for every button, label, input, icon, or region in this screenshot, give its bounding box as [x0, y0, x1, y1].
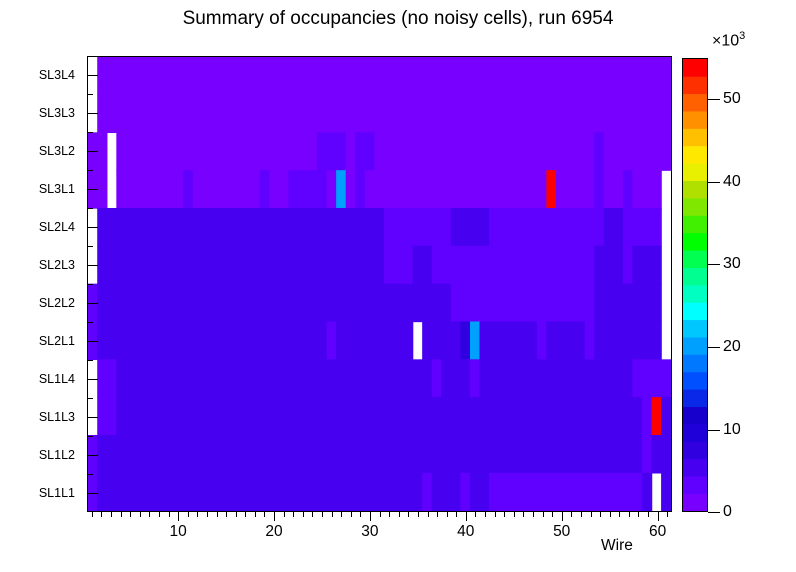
- heatmap-cell: [566, 132, 576, 171]
- heatmap-cell: [384, 57, 394, 95]
- heatmap-cell: [632, 284, 642, 323]
- heatmap-cell: [393, 397, 403, 436]
- heatmap-cell: [632, 473, 642, 511]
- heatmap-cell: [499, 397, 509, 436]
- heatmap-cell: [623, 132, 633, 171]
- heatmap-cell: [652, 397, 662, 436]
- heatmap-cell: [441, 473, 451, 511]
- heatmap-cell: [107, 435, 117, 474]
- x-tick-mark-minor: [428, 512, 429, 517]
- heatmap-cell: [518, 57, 528, 95]
- colorbar-band: [683, 198, 707, 216]
- heatmap-cell: [116, 321, 126, 360]
- heatmap-cell: [279, 132, 289, 171]
- colorbar-exponent-power: 3: [739, 30, 745, 42]
- heatmap-cell: [384, 359, 394, 398]
- heatmap-cell: [212, 208, 222, 247]
- heatmap-cell: [441, 170, 451, 209]
- heatmap-cell: [422, 397, 432, 436]
- heatmap-cell: [107, 397, 117, 436]
- heatmap-cell: [585, 321, 595, 360]
- heatmap-cell: [585, 94, 595, 133]
- heatmap-cell: [155, 321, 165, 360]
- heatmap-cell: [585, 359, 595, 398]
- heatmap-cell: [155, 473, 165, 511]
- heatmap-cell: [632, 94, 642, 133]
- heatmap-cell: [126, 246, 136, 285]
- heatmap-cell: [288, 321, 298, 360]
- heatmap-cell: [575, 473, 585, 511]
- heatmap-cell: [604, 208, 614, 247]
- colorbar-band: [683, 163, 707, 181]
- heatmap-cell: [604, 170, 614, 209]
- heatmap-cell: [174, 359, 184, 398]
- heatmap-cell: [307, 397, 317, 436]
- heatmap-cell: [661, 132, 671, 171]
- heatmap-cell: [288, 473, 298, 511]
- colorbar-band: [683, 493, 707, 511]
- heatmap-cell: [135, 57, 145, 95]
- heatmap-cell: [604, 321, 614, 360]
- heatmap-cell: [269, 132, 279, 171]
- heatmap-cell: [499, 208, 509, 247]
- heatmap-cell: [279, 170, 289, 209]
- heatmap-cell: [518, 170, 528, 209]
- heatmap-cell: [250, 397, 260, 436]
- heatmap-cell: [413, 473, 423, 511]
- heatmap-cell: [212, 170, 222, 209]
- heatmap-cell: [451, 170, 461, 209]
- x-tick-mark-minor: [293, 512, 294, 517]
- heatmap-cell: [355, 170, 365, 209]
- heatmap-cell: [241, 170, 251, 209]
- heatmap-cell: [174, 473, 184, 511]
- heatmap-cell: [489, 57, 499, 95]
- heatmap-cell: [384, 208, 394, 247]
- heatmap-cell: [250, 94, 260, 133]
- heatmap-cell: [508, 359, 518, 398]
- y-tick-mark-minor: [87, 94, 93, 95]
- heatmap-cell: [221, 321, 231, 360]
- x-tick-mark-minor: [619, 512, 620, 517]
- heatmap-cell: [231, 435, 241, 474]
- heatmap-cell: [652, 359, 662, 398]
- x-tick-mark: [466, 512, 467, 521]
- heatmap-cell: [212, 57, 222, 95]
- heatmap-cell: [327, 246, 337, 285]
- heatmap-cell: [126, 473, 136, 511]
- heatmap-cell: [432, 246, 442, 285]
- heatmap-cell: [441, 94, 451, 133]
- heatmap-cell: [594, 284, 604, 323]
- colorbar-band: [683, 215, 707, 233]
- heatmap-cell: [346, 57, 356, 95]
- heatmap-cell: [518, 94, 528, 133]
- heatmap-cell: [307, 473, 317, 511]
- heatmap-cell: [470, 321, 480, 360]
- colorbar[interactable]: [682, 58, 708, 512]
- heatmap-cell: [241, 132, 251, 171]
- heatmap-cell: [288, 94, 298, 133]
- heatmap-cell: [269, 57, 279, 95]
- heatmap-cell: [355, 284, 365, 323]
- heatmap-cell: [470, 94, 480, 133]
- heatmap-cell: [307, 57, 317, 95]
- heatmap-cell: [566, 208, 576, 247]
- heatmap-cell: [145, 94, 155, 133]
- heatmap-cell: [250, 57, 260, 95]
- heatmap-cell: [613, 94, 623, 133]
- heatmap-cell: [451, 57, 461, 95]
- colorbar-band: [683, 93, 707, 111]
- heatmap-cell: [202, 57, 212, 95]
- heatmap-cell: [393, 435, 403, 474]
- heatmap-cell: [489, 397, 499, 436]
- heatmap-cell: [116, 57, 126, 95]
- heatmap-cell: [537, 132, 547, 171]
- heatmap-cell: [460, 208, 470, 247]
- heatmap-cell: [393, 132, 403, 171]
- heatmap-cell: [661, 397, 671, 436]
- heatmap-cell: [164, 284, 174, 323]
- heatmap-cell: [241, 435, 251, 474]
- x-tick-mark-minor: [591, 512, 592, 517]
- heatmap-cell: [556, 170, 566, 209]
- heatmap-cell: [480, 473, 490, 511]
- heatmap-cell: [451, 397, 461, 436]
- heatmap-cell: [537, 57, 547, 95]
- heatmap-cell: [556, 246, 566, 285]
- heatmap-cell: [250, 170, 260, 209]
- heatmap-cell: [575, 208, 585, 247]
- x-tick-mark-minor: [226, 512, 227, 517]
- heatmap-cell: [518, 359, 528, 398]
- x-tick-mark: [370, 512, 371, 521]
- colorbar-band: [683, 128, 707, 146]
- x-tick-mark-minor: [245, 512, 246, 517]
- heatmap-cell: [403, 359, 413, 398]
- z-tick-mark: [708, 430, 720, 431]
- heatmap-cell: [594, 208, 604, 247]
- heatmap-cell: [202, 246, 212, 285]
- heatmap-cell: [250, 246, 260, 285]
- heatmap-cell: [527, 435, 537, 474]
- heatmap-cell: [126, 57, 136, 95]
- x-tick-mark-minor: [188, 512, 189, 517]
- heatmap-cell: [116, 170, 126, 209]
- heatmap-cell: [470, 435, 480, 474]
- heatmap-cell: [336, 57, 346, 95]
- heatmap-cell: [642, 435, 652, 474]
- heatmap-cell: [632, 321, 642, 360]
- heatmap-cell: [403, 170, 413, 209]
- heatmap-cell: [585, 246, 595, 285]
- heatmap-cell: [575, 132, 585, 171]
- heatmap-cell: [231, 132, 241, 171]
- heatmap-cell: [97, 321, 107, 360]
- heatmap-cell: [374, 170, 384, 209]
- heatmap-cell: [604, 397, 614, 436]
- heatmap-cell: [307, 284, 317, 323]
- colorbar-band: [683, 389, 707, 407]
- heatmap-cell: [355, 132, 365, 171]
- heatmap-cell: [174, 170, 184, 209]
- heatmap-cell: [556, 359, 566, 398]
- heatmap-cell: [365, 94, 375, 133]
- heatmap-cell: [317, 57, 327, 95]
- heatmap-cell: [327, 321, 337, 360]
- heatmap-cell: [116, 284, 126, 323]
- x-tick-mark: [658, 512, 659, 521]
- heatmap-cell: [374, 94, 384, 133]
- heatmap-cell: [470, 284, 480, 323]
- heatmap-cell: [575, 94, 585, 133]
- heatmap-cell: [623, 208, 633, 247]
- heatmap-cell: [527, 132, 537, 171]
- heatmap-cell: [642, 321, 652, 360]
- heatmap-cell: [336, 94, 346, 133]
- heatmap-cell: [403, 435, 413, 474]
- heatmap-cell: [441, 284, 451, 323]
- heatmap-cell: [126, 170, 136, 209]
- heatmap-cell: [585, 170, 595, 209]
- heatmap-cell: [604, 94, 614, 133]
- heatmap-cell: [575, 170, 585, 209]
- heatmap-cell: [585, 57, 595, 95]
- heatmap-cell: [546, 359, 556, 398]
- heatmap-cell: [556, 94, 566, 133]
- heatmap-cell: [546, 397, 556, 436]
- colorbar-band: [683, 476, 707, 494]
- heatmap-cell: [298, 284, 308, 323]
- heatmap-cell: [393, 284, 403, 323]
- y-tick-mark: [87, 493, 98, 494]
- heatmap-cell: [403, 473, 413, 511]
- heatmap-cell: [135, 397, 145, 436]
- heatmap-cell: [451, 132, 461, 171]
- heatmap-cell: [575, 435, 585, 474]
- heatmap-cell: [174, 284, 184, 323]
- heatmap-cell: [566, 284, 576, 323]
- heatmap-cell: [604, 57, 614, 95]
- heatmap-cell: [613, 170, 623, 209]
- x-tick-mark-minor: [207, 512, 208, 517]
- z-tick-mark: [708, 182, 720, 183]
- heatmap-cell: [231, 321, 241, 360]
- heatmap-cell: [623, 435, 633, 474]
- heatmap-cell: [145, 246, 155, 285]
- heatmap-cell: [384, 397, 394, 436]
- heatmap-cell: [155, 359, 165, 398]
- heatmap-cell: [575, 246, 585, 285]
- heatmap-cell: [594, 321, 604, 360]
- x-tick-mark-minor: [332, 512, 333, 517]
- x-tick-mark-minor: [322, 512, 323, 517]
- heatmap-cell: [422, 246, 432, 285]
- heatmap-cell: [327, 132, 337, 171]
- heatmap-cell: [470, 208, 480, 247]
- heatmap-cell: [260, 132, 270, 171]
- heatmap-cell: [327, 359, 337, 398]
- heatmap-cell: [384, 284, 394, 323]
- heatmap-cell: [537, 170, 547, 209]
- heatmap-cell: [652, 435, 662, 474]
- heatmap-cell: [623, 94, 633, 133]
- heatmap-cell: [527, 57, 537, 95]
- x-tick-mark-minor: [284, 512, 285, 517]
- heatmap-cell: [135, 321, 145, 360]
- y-tick-label-sl3l4: SL3L4: [39, 68, 75, 82]
- heatmap-cell: [116, 359, 126, 398]
- colorbar-band: [683, 180, 707, 198]
- x-tick-mark-minor: [312, 512, 313, 517]
- heatmap-cell: [355, 473, 365, 511]
- heatmap-cell: [470, 132, 480, 171]
- heatmap-cell: [260, 473, 270, 511]
- heatmap-cell: [556, 397, 566, 436]
- heatmap-cell: [642, 57, 652, 95]
- heatmap-cell: [126, 94, 136, 133]
- heatmap-cell: [288, 170, 298, 209]
- heatmap-cell: [604, 359, 614, 398]
- y-tick-mark-minor: [87, 246, 93, 247]
- heatmap-cell: [107, 321, 117, 360]
- heatmap-cell: [518, 397, 528, 436]
- heatmap-cell: [451, 208, 461, 247]
- heatmap-cell: [556, 57, 566, 95]
- heatmap-cell: [135, 208, 145, 247]
- heatmap-cell: [288, 57, 298, 95]
- heatmap-cell: [126, 132, 136, 171]
- heatmap-cell: [365, 435, 375, 474]
- heatmap-cell: [231, 246, 241, 285]
- y-tick-label-sl3l2: SL3L2: [39, 144, 75, 158]
- heatmap-cell: [298, 208, 308, 247]
- heatmap-cell: [317, 94, 327, 133]
- heatmap-cell: [623, 246, 633, 285]
- heatmap-cell: [97, 473, 107, 511]
- heatmap-cell: [365, 397, 375, 436]
- colorbar-band: [683, 267, 707, 285]
- heatmap-cell: [174, 397, 184, 436]
- x-tick-mark-minor: [648, 512, 649, 517]
- heatmap-cell: [346, 397, 356, 436]
- heatmap-cell: [231, 170, 241, 209]
- heatmap-cell: [145, 57, 155, 95]
- colorbar-band: [683, 424, 707, 442]
- y-tick-mark: [87, 189, 98, 190]
- z-tick-label-40: 40: [723, 173, 741, 191]
- colorbar-exponent-base: ×10: [712, 32, 739, 49]
- heatmap-cell: [432, 57, 442, 95]
- heatmap-cell: [556, 473, 566, 511]
- heatmap-cell: [403, 284, 413, 323]
- heatmap-cell: [480, 94, 490, 133]
- y-tick-mark: [87, 417, 98, 418]
- heatmap-cell: [546, 208, 556, 247]
- heatmap-cell: [346, 435, 356, 474]
- heatmap-cell: [126, 435, 136, 474]
- heatmap-cell: [499, 359, 509, 398]
- heatmap-cell: [432, 473, 442, 511]
- heatmap-cell: [250, 284, 260, 323]
- heatmap-cell: [317, 170, 327, 209]
- heatmap-cell: [652, 94, 662, 133]
- x-tick-mark-minor: [629, 512, 630, 517]
- y-tick-mark: [87, 151, 98, 152]
- heatmap-cell: [97, 57, 107, 95]
- x-axis-title: Wire: [601, 537, 633, 555]
- heatmap-cell: [508, 132, 518, 171]
- heatmap-cell: [107, 359, 117, 398]
- heatmap-cell: [652, 132, 662, 171]
- heatmap-cell: [403, 57, 413, 95]
- y-tick-mark: [87, 113, 98, 114]
- heatmap-cell: [155, 170, 165, 209]
- heatmap-cell: [212, 397, 222, 436]
- heatmap-cell: [317, 208, 327, 247]
- heatmap-cell: [594, 94, 604, 133]
- heatmap-cell: [116, 435, 126, 474]
- heatmap-cell: [155, 94, 165, 133]
- heatmap-cell: [613, 132, 623, 171]
- heatmap-cell: [652, 57, 662, 95]
- colorbar-exponent: ×103: [712, 30, 745, 50]
- heatmap-cell: [652, 284, 662, 323]
- colorbar-gradient: [683, 59, 707, 511]
- z-tick-label-10: 10: [723, 421, 741, 439]
- heatmap-cell: [537, 435, 547, 474]
- heatmap-cell: [393, 208, 403, 247]
- heatmap-cell: [107, 208, 117, 247]
- heatmap-cell: [594, 435, 604, 474]
- y-tick-mark: [87, 341, 98, 342]
- heatmap-cell: [508, 473, 518, 511]
- heatmap-cell: [241, 359, 251, 398]
- heatmap-cell: [155, 208, 165, 247]
- heatmap-plot-area[interactable]: [87, 56, 672, 512]
- colorbar-band: [683, 354, 707, 372]
- colorbar-band: [683, 337, 707, 355]
- heatmap-cell: [623, 170, 633, 209]
- x-tick-mark-minor: [303, 512, 304, 517]
- heatmap-cell: [642, 473, 652, 511]
- heatmap-cell: [604, 435, 614, 474]
- heatmap-cell: [460, 435, 470, 474]
- heatmap-cell: [403, 132, 413, 171]
- heatmap-cell: [537, 359, 547, 398]
- heatmap-cell: [88, 473, 98, 511]
- y-tick-label-sl2l4: SL2L4: [39, 220, 75, 234]
- heatmap-cell: [413, 284, 423, 323]
- x-tick-mark: [562, 512, 563, 521]
- heatmap-cell: [164, 94, 174, 133]
- heatmap-cell: [546, 246, 556, 285]
- heatmap-cell: [97, 435, 107, 474]
- heatmap-cell: [155, 435, 165, 474]
- heatmap-cell: [393, 359, 403, 398]
- x-tick-mark-minor: [667, 512, 668, 517]
- heatmap-cell: [202, 94, 212, 133]
- heatmap-cell: [508, 246, 518, 285]
- y-tick-mark-minor: [87, 170, 93, 171]
- heatmap-cell: [327, 284, 337, 323]
- heatmap-cell: [107, 94, 117, 133]
- heatmap-cell: [279, 284, 289, 323]
- heatmap-cell: [269, 284, 279, 323]
- heatmap-cell: [432, 359, 442, 398]
- heatmap-cell: [604, 132, 614, 171]
